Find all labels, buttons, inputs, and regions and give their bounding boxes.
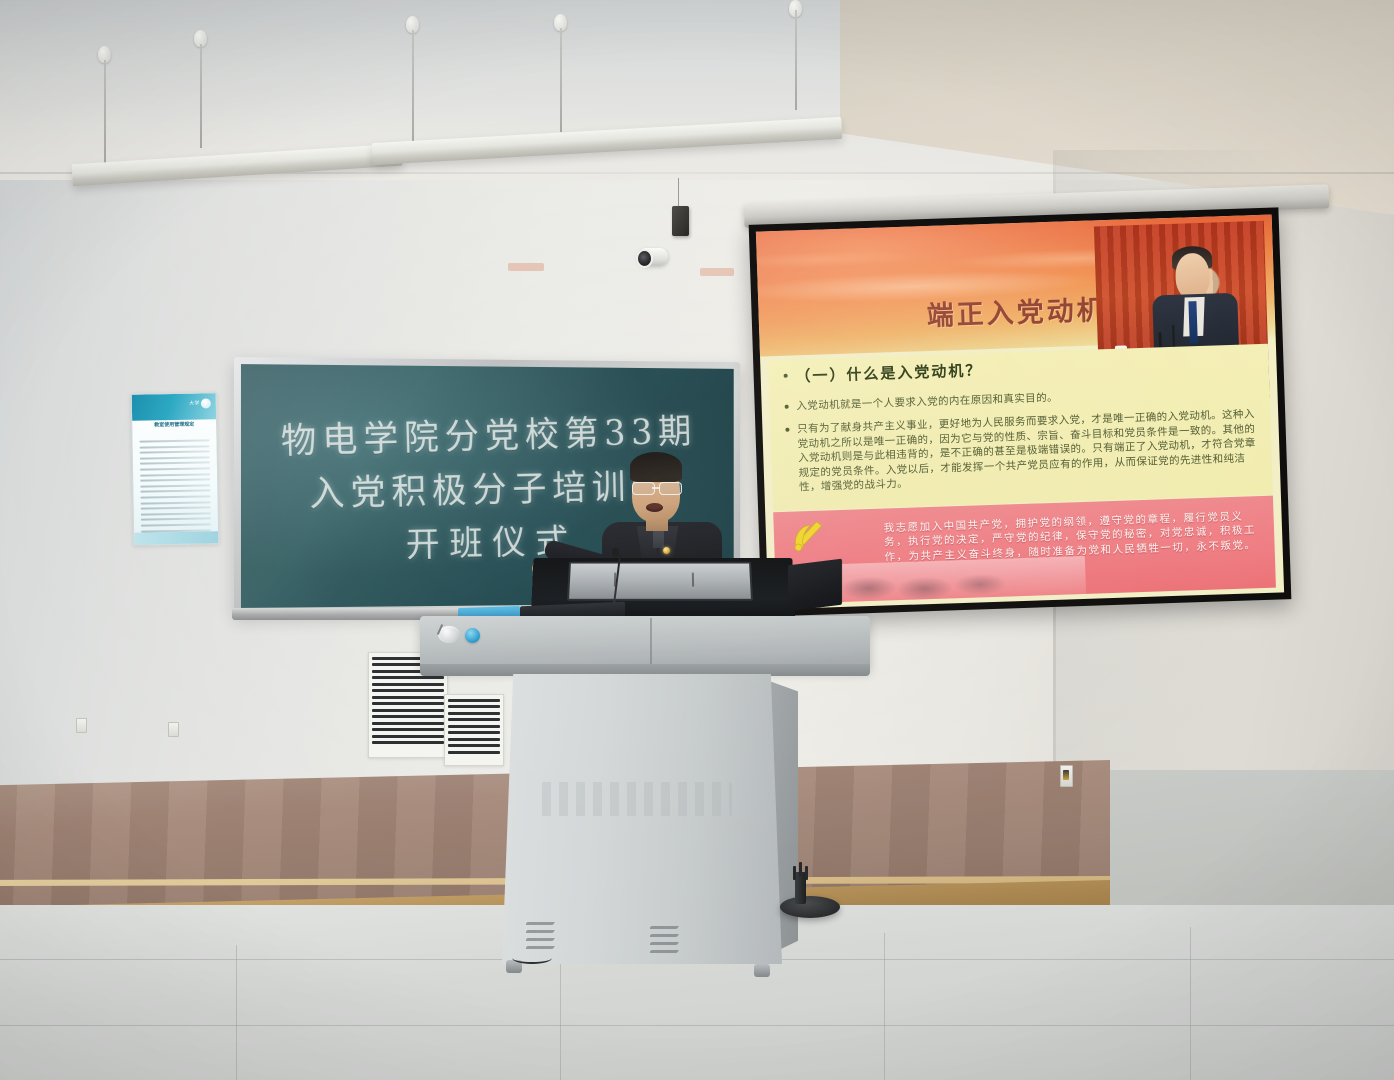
presentation-slide: 端正入党动机 （一）什么是入党动机？: [756, 215, 1284, 610]
teaching-podium[interactable]: [420, 600, 870, 985]
podium-power-cable: [512, 952, 552, 964]
monitor-divider: [692, 573, 694, 587]
wall-outlet[interactable]: [76, 718, 87, 733]
tile-seam: [884, 933, 885, 1080]
speaker-eyebrow: [659, 478, 677, 481]
oath-text: 我志愿加入中国共产党，拥护党的纲领，遵守党的章程，履行党员义务，执行党的决定，严…: [883, 509, 1265, 565]
screen-control-switch[interactable]: [1060, 765, 1073, 787]
slide-bullet-text: （一）什么是入党动机？: [795, 359, 983, 386]
photo-tie: [1188, 301, 1198, 344]
podium-foot: [754, 964, 770, 977]
podium-vent-right: [650, 926, 716, 956]
stand-prong: [805, 866, 808, 880]
ceiling-sensor-device: [672, 206, 689, 236]
poster-footer-band: [134, 531, 218, 544]
podium-back-panel: [788, 559, 842, 612]
bullet-dot-icon: [784, 405, 788, 409]
camera-lens-icon: [636, 249, 653, 268]
stand-prong: [799, 862, 802, 876]
bullet-dot-icon: [785, 428, 789, 432]
slide-bullet: 只有为了献身共产主义事业，更好地为人民服务而要求入党，才是唯一正确的入党动机。这…: [785, 407, 1258, 495]
tile-seam: [236, 945, 237, 1080]
slide-body: （一）什么是入党动机？ 入党动机就是一个人要求入党的内在原因和真实目的。 只有为…: [768, 343, 1273, 511]
party-emblem-pin-icon: [663, 547, 670, 554]
lamp-hanger-rod: [200, 44, 202, 148]
poster-body-lines: [139, 439, 211, 535]
poster-header-band: 大学: [132, 393, 216, 420]
lamp-hanger-rod: [104, 60, 106, 170]
microphone-head-icon: [612, 548, 619, 557]
podium-faint-logo: [542, 782, 732, 816]
podium-desktop-surface[interactable]: [420, 616, 870, 670]
slide-bullet-text: 入党动机就是一个人要求入党的内在原因和真实目的。: [796, 391, 1058, 414]
podium-front-panel: [502, 674, 782, 964]
slide-bullet: （一）什么是入党动机？: [783, 355, 1084, 386]
lamp-hanger-rod: [795, 10, 797, 110]
wall-accent-strip: [700, 268, 734, 276]
poster-logo-text: 大学: [189, 400, 200, 407]
stand-prong: [793, 866, 796, 880]
lamp-hanger-rod: [560, 28, 562, 132]
tile-seam: [1190, 927, 1191, 1080]
tile-seam: [0, 1025, 1394, 1026]
university-seal-icon: [201, 398, 211, 408]
classroom-photo: 大学 教室使用管理规定 物电学院分党校第33期 入党积极分子培训班 开班仪式 端…: [0, 0, 1394, 1080]
bullet-dot-icon: [783, 373, 787, 377]
speaker-eyebrow: [634, 478, 652, 481]
wall-outlet[interactable]: [168, 722, 179, 737]
device-wire: [678, 178, 679, 206]
microphone-stand-base[interactable]: [780, 896, 840, 918]
speaker-mouth: [646, 503, 663, 512]
lamp-hanger-rod: [412, 30, 414, 146]
glasses-icon: [659, 482, 682, 495]
projection-screen-frame: 端正入党动机 （一）什么是入党动机？: [749, 207, 1292, 616]
glasses-bridge: [652, 487, 660, 489]
podium-blue-sticker-icon: [465, 628, 480, 643]
slide-oath-block: 我志愿加入中国共产党，拥护党的纲领，遵守党的章程，履行党员义务，执行党的决定，严…: [773, 496, 1276, 605]
podium-lid-seam: [650, 618, 652, 668]
poster-title: 教室使用管理规定: [140, 421, 208, 429]
wall-poster[interactable]: 大学 教室使用管理规定: [131, 392, 220, 545]
wall-accent-strip: [508, 263, 544, 271]
party-emblem-icon: [788, 518, 829, 553]
photo-head: [1175, 252, 1211, 299]
podium-control-monitor[interactable]: [567, 562, 753, 601]
slide-bullet-text: 只有为了献身共产主义事业，更好地为人民服务而要求入党，才是唯一正确的入党动机。这…: [797, 407, 1258, 495]
podium-vent-left: [526, 922, 592, 952]
